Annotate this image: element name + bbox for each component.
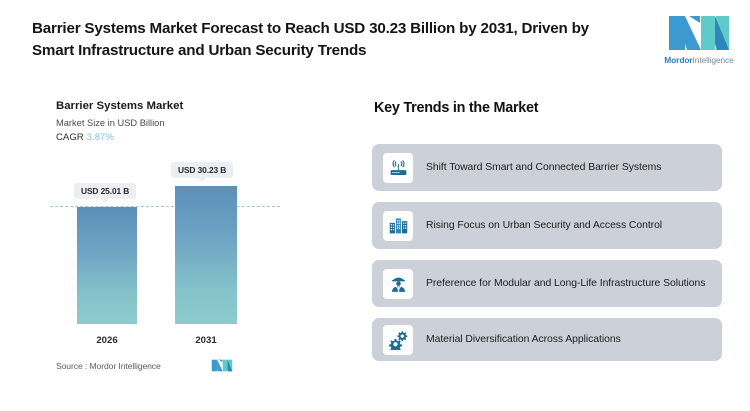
trends-panel: Key Trends in the Market [372,92,724,392]
mordor-m-logo-icon [211,359,233,372]
trend-card-urban-security[interactable]: Rising Focus on Urban Security and Acces… [372,202,722,249]
city-buildings-icon [388,215,409,236]
trend-label: Preference for Modular and Long-Life Inf… [426,276,719,291]
trends-heading: Key Trends in the Market [374,100,538,116]
mordor-m-logo-icon [667,14,731,52]
source-text: Source : Mordor Intelligence [56,361,161,371]
gears-icon [388,329,409,350]
x-axis-label-2026: 2026 [72,335,142,346]
trend-list: Shift Toward Smart and Connected Barrier… [372,144,722,372]
brand-logo: MordorIntelligence [660,14,738,65]
wireless-router-icon [388,157,409,178]
bar-value-label-2031: USD 30.23 B [171,162,233,178]
trend-card-modular-infrastructure[interactable]: Preference for Modular and Long-Life Inf… [372,260,722,307]
trend-label: Material Diversification Across Applicat… [426,332,635,347]
icon-box [383,211,413,241]
header: Barrier Systems Market Forecast to Reach… [0,0,750,86]
infographic-page: Barrier Systems Market Forecast to Reach… [0,0,750,411]
icon-box [383,325,413,355]
brand-wordmark: MordorIntelligence [660,55,738,65]
chart-panel: Barrier Systems Market Market Size in US… [0,92,352,392]
trend-card-material-diversification[interactable]: Material Diversification Across Applicat… [372,318,722,361]
brand-name-bold: Mordor [664,55,692,65]
trend-label: Shift Toward Smart and Connected Barrier… [426,160,675,175]
trend-label: Rising Focus on Urban Security and Acces… [426,218,676,233]
trend-card-smart-connected[interactable]: Shift Toward Smart and Connected Barrier… [372,144,722,191]
bar-chart-plot: USD 25.01 B USD 30.23 B 2026 2031 [0,92,352,392]
construction-worker-icon [388,273,409,294]
bar-2031 [175,186,237,324]
page-title: Barrier Systems Market Forecast to Reach… [32,18,632,61]
x-axis-label-2031: 2031 [171,335,241,346]
icon-box [383,269,413,299]
brand-name-light: Intelligence [693,55,734,65]
bar-value-label-2026: USD 25.01 B [74,183,136,199]
bar-2026 [77,207,137,324]
source-row: Source : Mordor Intelligence [56,359,233,372]
icon-box [383,153,413,183]
